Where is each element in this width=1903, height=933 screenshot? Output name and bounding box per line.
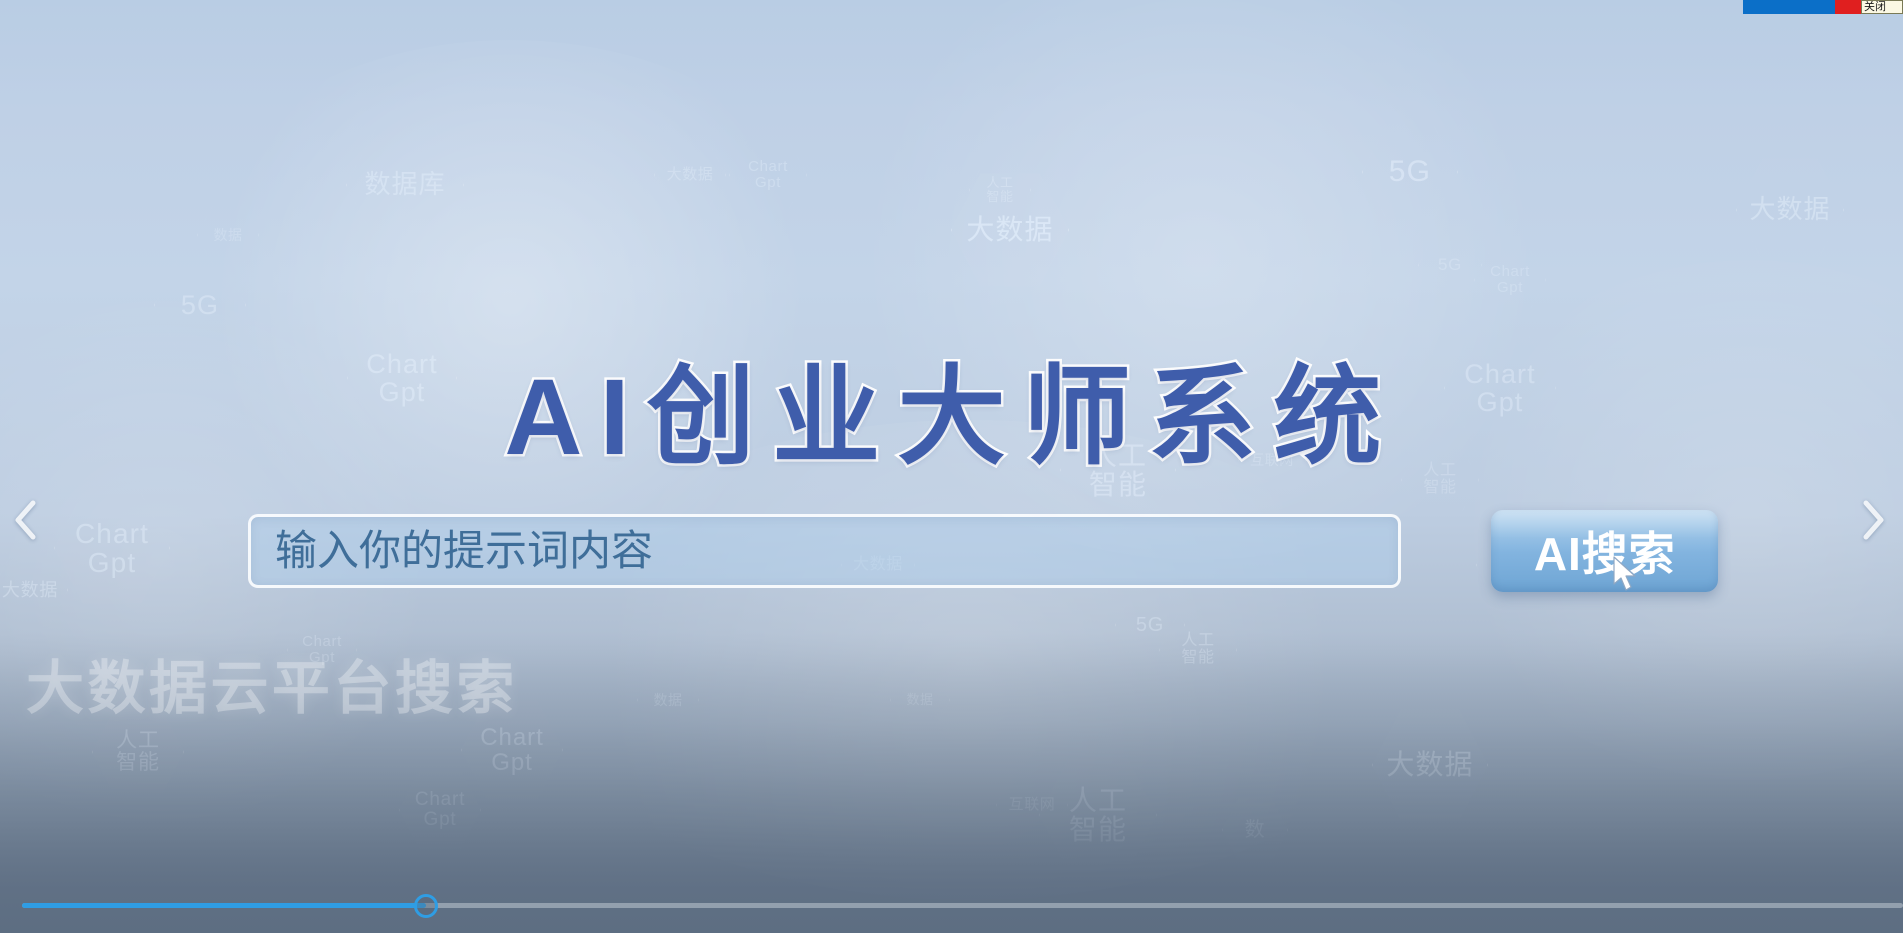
chevron-left-icon: [12, 498, 38, 542]
backdrop-glow: [520, 420, 1420, 900]
hexagon-tag: Chart Gpt: [399, 769, 481, 851]
hexagon-tag: Chart Gpt: [54, 490, 170, 606]
hexagon-tag: 人工 智能: [1039, 756, 1157, 874]
hexagon-tag: 人工 智能: [92, 706, 184, 798]
carousel-prev-button[interactable]: [2, 490, 48, 550]
chevron-right-icon: [1861, 498, 1887, 542]
hexagon-tag: 5G: [1115, 590, 1185, 660]
hexagon-tag: 5G: [1418, 233, 1482, 297]
hexagon-tag: 数据: [890, 670, 950, 730]
hexagon-tag: 大数据: [1372, 707, 1488, 823]
hexagon-tag: 大数据: [654, 139, 726, 211]
page-title: AI创业大师系统: [0, 330, 1903, 486]
hexagon-tag: Chart Gpt: [1474, 244, 1546, 316]
hexagon-tag: 互联网: [996, 769, 1068, 841]
chrome-blue-bar: [1743, 0, 1835, 14]
ai-search-button[interactable]: AI搜索: [1491, 510, 1718, 592]
bottom-gradient-overlay: [0, 633, 1903, 933]
hexagon-tag: Chart Gpt: [729, 136, 807, 214]
close-window-button[interactable]: [1835, 0, 1861, 14]
hexagon-tag: 大数据: [0, 552, 68, 628]
hexagon-tag: 数据库: [346, 126, 464, 244]
slider-handle[interactable]: [414, 894, 438, 918]
app-stage: 数据库大数据Chart Gpt5G大数据人工 智能大数据5GChart Gpt5…: [0, 0, 1903, 933]
slider-fill: [22, 903, 426, 908]
search-row: AI搜索: [248, 508, 1718, 594]
hexagon-tag: Chart Gpt: [287, 615, 357, 685]
hexagon-tag: 大数据: [1736, 156, 1844, 264]
browser-chrome-strip: 关闭: [1743, 0, 1903, 14]
hexagon-tag: 数据: [637, 669, 699, 731]
hexagon-tag: 数: [1222, 797, 1288, 863]
hexagon-tag: Chart Gpt: [461, 699, 563, 801]
hexagon-tag: 人工 智能: [1159, 611, 1237, 689]
search-input[interactable]: [248, 514, 1401, 588]
playback-slider[interactable]: [22, 894, 1903, 916]
hexagon-tag: 数据: [197, 204, 259, 266]
hexagon-tag: 大数据: [951, 171, 1069, 289]
carousel-next-button[interactable]: [1851, 490, 1897, 550]
close-tooltip: 关闭: [1861, 0, 1903, 14]
hexagon-tag: 5G: [1362, 124, 1458, 220]
watermark-text: 大数据云平台搜索: [26, 641, 518, 725]
hexagon-tag: 人工 智能: [969, 159, 1031, 221]
